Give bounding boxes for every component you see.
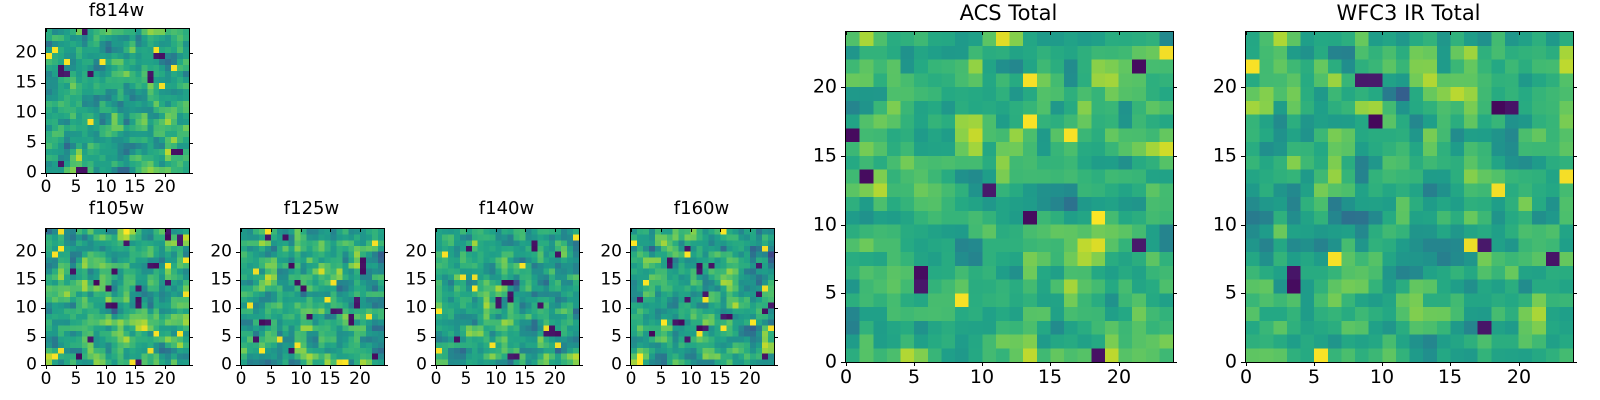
ytick-wfc3-ir-total-0 (1241, 362, 1245, 363)
ytick-right-wfc3-ir-total-1 (1573, 293, 1577, 294)
ytick-wfc3-ir-total-3 (1241, 156, 1245, 157)
xticklabel-wfc3-ir-total-4: 20 (1507, 368, 1531, 387)
axes-wfc3-ir-total (1245, 31, 1574, 363)
yticklabel-wfc3-ir-total-3: 15 (1185, 147, 1237, 166)
ytick-right-wfc3-ir-total-0 (1573, 362, 1577, 363)
yticklabel-wfc3-ir-total-1: 5 (1185, 284, 1237, 303)
xticklabel-wfc3-ir-total-1: 5 (1308, 368, 1320, 387)
xtick-top-wfc3-ir-total-4 (1519, 31, 1520, 35)
xtick-top-wfc3-ir-total-1 (1314, 31, 1315, 35)
yticklabel-wfc3-ir-total-2: 10 (1185, 216, 1237, 235)
panel-wfc3-ir-total: WFC3 IR Total0510152005101520 (0, 0, 1600, 400)
heatmap-image-wfc3-ir-total (1246, 32, 1573, 362)
ytick-right-wfc3-ir-total-2 (1573, 225, 1577, 226)
ytick-wfc3-ir-total-1 (1241, 293, 1245, 294)
ytick-wfc3-ir-total-2 (1241, 225, 1245, 226)
xtick-top-wfc3-ir-total-3 (1450, 31, 1451, 35)
xticklabel-wfc3-ir-total-0: 0 (1240, 368, 1252, 387)
xtick-top-wfc3-ir-total-0 (1246, 31, 1247, 35)
ytick-right-wfc3-ir-total-4 (1573, 87, 1577, 88)
panel-title-wfc3-ir-total: WFC3 IR Total (1245, 3, 1572, 24)
xticklabel-wfc3-ir-total-2: 10 (1370, 368, 1394, 387)
ytick-wfc3-ir-total-4 (1241, 87, 1245, 88)
figure-canvas: f814w0510152005101520f105w05101520051015… (0, 0, 1600, 400)
ytick-right-wfc3-ir-total-3 (1573, 156, 1577, 157)
yticklabel-wfc3-ir-total-0: 0 (1185, 353, 1237, 372)
xticklabel-wfc3-ir-total-3: 15 (1438, 368, 1462, 387)
xtick-top-wfc3-ir-total-2 (1382, 31, 1383, 35)
yticklabel-wfc3-ir-total-4: 20 (1185, 78, 1237, 97)
